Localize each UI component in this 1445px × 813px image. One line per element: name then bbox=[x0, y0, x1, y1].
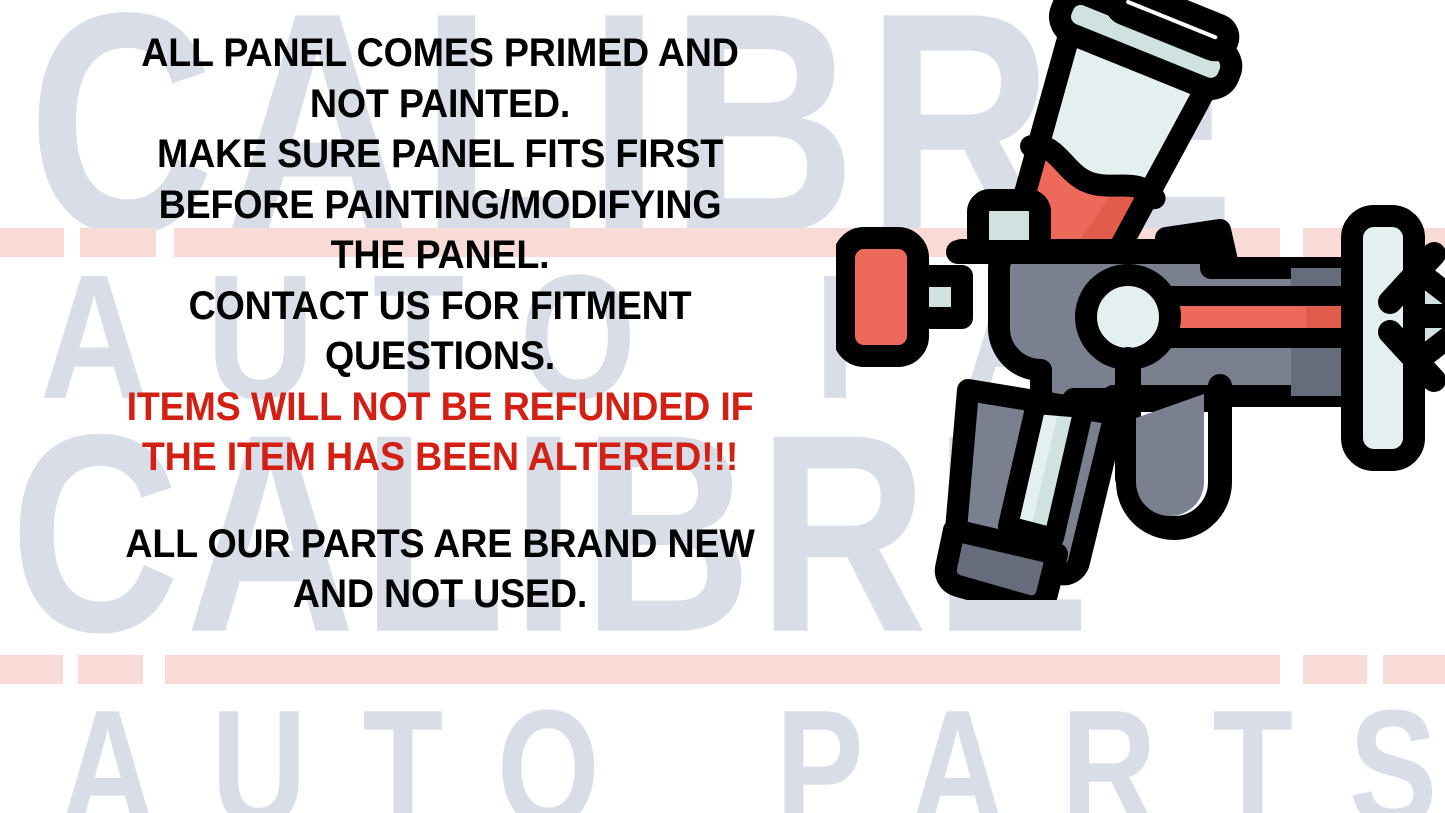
notice-line: QUESTIONS. bbox=[26, 331, 853, 382]
notice-spacer bbox=[26, 483, 853, 519]
band-segment bbox=[0, 655, 63, 684]
refund-warning-line: THE ITEM HAS BEEN ALTERED!!! bbox=[26, 432, 853, 483]
notice-line: ALL PANEL COMES PRIMED AND bbox=[26, 28, 853, 79]
spray-gun-icon bbox=[836, 0, 1445, 600]
notice-text-block: ALL PANEL COMES PRIMED AND NOT PAINTED. … bbox=[26, 28, 853, 620]
notice-line: CONTACT US FOR FITMENT bbox=[26, 281, 853, 332]
watermark-auto-bottom: AUTOPARTS bbox=[60, 686, 1445, 813]
closing-line: AND NOT USED. bbox=[26, 569, 853, 620]
refund-warning-line: ITEMS WILL NOT BE REFUNDED IF bbox=[26, 382, 853, 433]
band-segment bbox=[78, 655, 143, 684]
promo-banner: CALIBRE AUTOPARTS CALIBRE AUTOPARTS bbox=[0, 0, 1445, 813]
watermark-auto-bottom-text: AUTO bbox=[60, 676, 656, 813]
band-segment bbox=[1303, 655, 1367, 684]
notice-line: NOT PAINTED. bbox=[26, 79, 853, 130]
closing-line: ALL OUR PARTS ARE BRAND NEW bbox=[26, 519, 853, 570]
notice-line: BEFORE PAINTING/MODIFYING bbox=[26, 180, 853, 231]
band-segment bbox=[1383, 655, 1445, 684]
notice-line: MAKE SURE PANEL FITS FIRST bbox=[26, 129, 853, 180]
band-segment bbox=[165, 655, 1280, 684]
notice-line: THE PANEL. bbox=[26, 230, 853, 281]
watermark-parts-bottom-text: PARTS bbox=[776, 676, 1445, 813]
